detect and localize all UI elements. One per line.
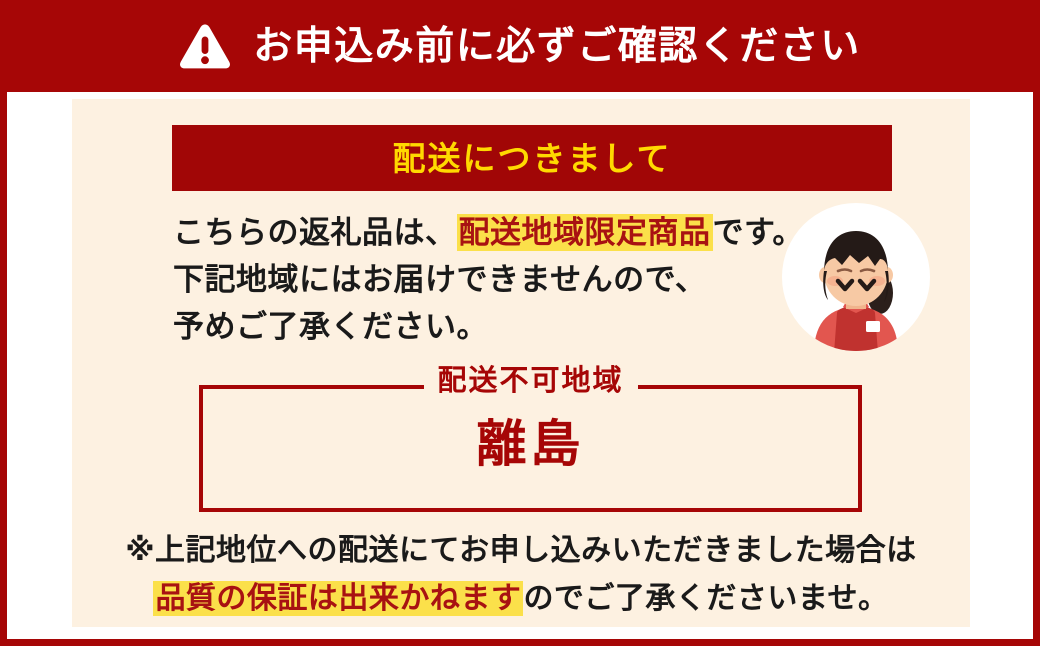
footer-line-2: 品質の保証は出来かねますのでご了承くださいませ。 — [72, 575, 970, 623]
footer-note: ※上記地位への配送にてお申し込みいただきました場合は 品質の保証は出来かねますの… — [72, 527, 970, 623]
section-title-text: 配送につきまして — [392, 142, 671, 175]
content-panel: 配送につきまして こちらの返礼品は、配送地域限定商品です。 下記地域にはお届けで… — [72, 99, 970, 627]
intro-line-1: こちらの返礼品は、配送地域限定商品です。 — [173, 209, 733, 256]
footer-line-1: ※上記地位への配送にてお申し込みいただきました場合は — [72, 527, 970, 575]
delivery-notice-banner: お申込み前に必ずご確認ください 配送につきまして こちらの返礼品は、配送地域限定… — [0, 0, 1040, 646]
header-title: お申込み前に必ずご確認ください — [253, 27, 861, 66]
bowing-staff-woman-illustration — [780, 201, 932, 353]
intro-line-2: 下記地域にはお届けできませんので、 — [173, 256, 733, 303]
intro-line-3: 予めご了承ください。 — [173, 303, 733, 350]
no-delivery-area-legend: 配送不可地域 — [423, 367, 637, 396]
limited-area-highlight: 配送地域限定商品 — [457, 214, 713, 251]
header-banner: お申込み前に必ずご確認ください — [0, 0, 1040, 92]
no-delivery-area-value: 離島 — [203, 419, 858, 469]
intro-paragraph: こちらの返礼品は、配送地域限定商品です。 下記地域にはお届けできませんので、 予… — [173, 209, 733, 350]
warning-triangle-icon — [179, 22, 231, 70]
no-delivery-area-box: 配送不可地域 離島 — [199, 385, 862, 512]
footer-line-2-tail: のでご了承くださいませ。 — [523, 582, 888, 615]
intro-line-1-prefix: こちらの返礼品は、 — [173, 215, 457, 250]
section-title-bar: 配送につきまして — [172, 125, 892, 191]
quality-warning-highlight: 品質の保証は出来かねます — [153, 581, 523, 616]
